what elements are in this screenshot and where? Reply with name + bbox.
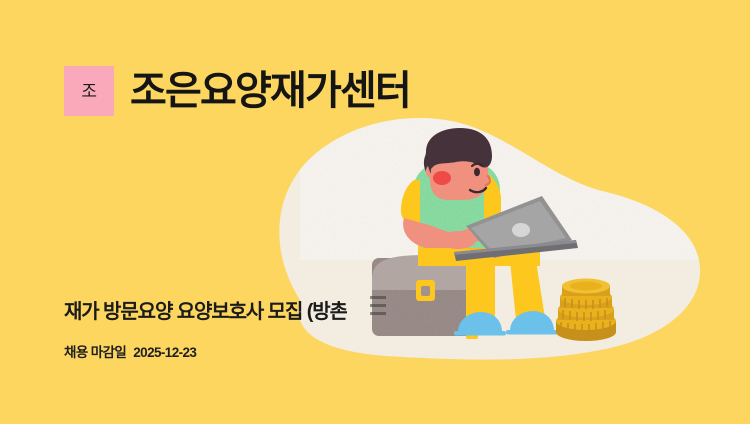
- coin-stack: [556, 279, 616, 342]
- deadline-row: 채용 마감일2025-12-23: [64, 341, 347, 361]
- posting-copy: 재가 방문요양 요양보호사 모집 (방촌 채용 마감일2025-12-23: [64, 300, 347, 361]
- deadline-label: 채용 마감일: [64, 345, 126, 360]
- brand-header: 조 조은요양재가센터: [64, 66, 410, 116]
- brand-name: 조은요양재가센터: [130, 71, 410, 111]
- head: [424, 128, 492, 200]
- brand-logo-initial: 조: [81, 83, 96, 100]
- deadline-date: 2025-12-23: [133, 345, 196, 360]
- job-posting-poster: 조 조은요양재가센터: [0, 0, 750, 424]
- job-title: 재가 방문요양 요양보호사 모집 (방촌: [64, 300, 347, 325]
- illustration-person-with-laptop: [370, 128, 640, 343]
- shoes: [454, 311, 558, 336]
- brand-logo-badge: 조: [64, 66, 114, 116]
